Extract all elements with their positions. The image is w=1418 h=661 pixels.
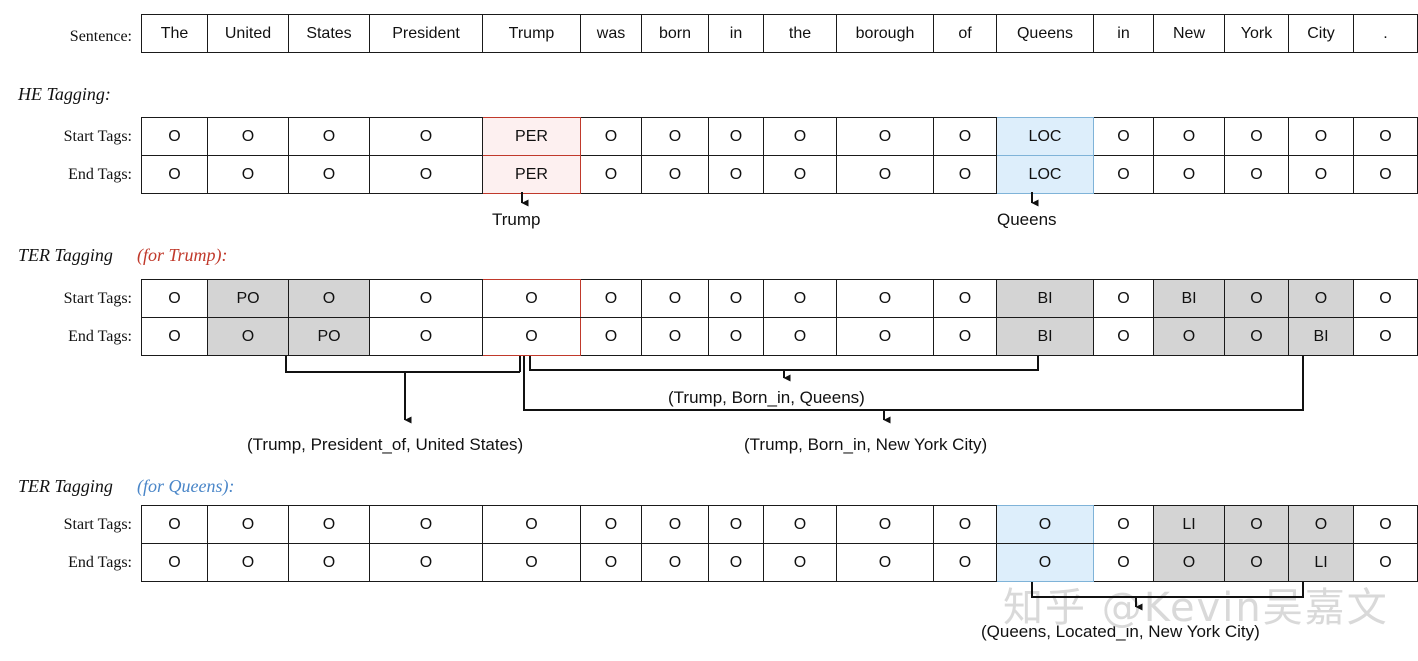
sentence-token-1: United xyxy=(208,15,289,53)
ter-queens-start-cell-10: O xyxy=(934,506,997,544)
ter-trump-start-label: Start Tags: xyxy=(0,290,132,308)
relation-born-in-nyc: (Trump, Born_in, New York City) xyxy=(744,435,987,455)
relation-born-in-queens: (Trump, Born_in, Queens) xyxy=(668,388,865,408)
he-end-cell-7: O xyxy=(709,156,764,194)
he-end-cell-2: O xyxy=(289,156,370,194)
sentence-token-7: in xyxy=(709,15,764,53)
ter-queens-end-cell-3: O xyxy=(370,544,483,582)
he-end-cell-5: O xyxy=(581,156,642,194)
he-start-cell-5: O xyxy=(581,118,642,156)
ter-queens-start-cell-12: O xyxy=(1094,506,1154,544)
ter-trump-start-cell-16: O xyxy=(1354,280,1418,318)
bracket-president-left xyxy=(286,356,520,372)
ter-trump-start-cell-11: BI xyxy=(997,280,1094,318)
he-end-cell-0: O xyxy=(142,156,208,194)
sentence-token-8: the xyxy=(764,15,837,53)
he-start-cell-12: O xyxy=(1094,118,1154,156)
ter-trump-end-cell-11: BI xyxy=(997,318,1094,356)
ter-trump-start-cell-3: O xyxy=(370,280,483,318)
he-start-cell-7: O xyxy=(709,118,764,156)
ter-trump-start-cell-14: O xyxy=(1225,280,1289,318)
ter-trump-start-cell-12: O xyxy=(1094,280,1154,318)
sentence-token-6: born xyxy=(642,15,709,53)
sentence-token-15: City xyxy=(1289,15,1354,53)
ter-trump-end-cell-2: PO xyxy=(289,318,370,356)
he-end-cell-12: O xyxy=(1094,156,1154,194)
ter-trump-end-cell-13: O xyxy=(1154,318,1225,356)
he-end-cell-10: O xyxy=(934,156,997,194)
ter-trump-end-label: End Tags: xyxy=(0,328,132,346)
ter-queens-end-cell-9: O xyxy=(837,544,934,582)
he-start-cell-3: O xyxy=(370,118,483,156)
he-start-cell-4: PER xyxy=(483,118,581,156)
ter-queens-end-cell-8: O xyxy=(764,544,837,582)
table-row: OOPOOOOOOOOOBIOOOBIO xyxy=(142,318,1418,356)
sentence-token-0: The xyxy=(142,15,208,53)
he-start-cell-8: O xyxy=(764,118,837,156)
ter-queens-title: TER Tagging xyxy=(18,476,113,497)
ter-trump-end-cell-5: O xyxy=(581,318,642,356)
sentence-token-12: in xyxy=(1094,15,1154,53)
bracket-born-queens xyxy=(530,356,1038,370)
ter-trump-end-cell-16: O xyxy=(1354,318,1418,356)
table-row: OOOOPEROOOOOOLOCOOOOO xyxy=(142,156,1418,194)
ter-trump-start-cell-6: O xyxy=(642,280,709,318)
he-start-cell-9: O xyxy=(837,118,934,156)
ter-trump-tag-table: OPOOOOOOOOOOBIOBIOOO OOPOOOOOOOOOBIOOOBI… xyxy=(141,279,1418,356)
sentence-table: TheUnitedStatesPresidentTrumpwasborninth… xyxy=(141,14,1418,53)
sentence-token-3: President xyxy=(370,15,483,53)
ter-trump-start-cell-4: O xyxy=(483,280,581,318)
he-end-cell-14: O xyxy=(1225,156,1289,194)
ter-queens-end-cell-0: O xyxy=(142,544,208,582)
figure-canvas: Sentence: TheUnitedStatesPresidentTrumpw… xyxy=(0,0,1418,661)
ter-queens-start-cell-9: O xyxy=(837,506,934,544)
ter-queens-start-cell-11: O xyxy=(997,506,1094,544)
ter-queens-start-cell-3: O xyxy=(370,506,483,544)
table-row: OPOOOOOOOOOOBIOBIOOO xyxy=(142,280,1418,318)
he-start-cell-0: O xyxy=(142,118,208,156)
ter-queens-start-cell-13: LI xyxy=(1154,506,1225,544)
ter-trump-end-cell-1: O xyxy=(208,318,289,356)
sentence-token-11: Queens xyxy=(997,15,1094,53)
sentence-token-10: of xyxy=(934,15,997,53)
ter-queens-start-cell-6: O xyxy=(642,506,709,544)
he-start-cell-16: O xyxy=(1354,118,1418,156)
watermark-text: 知乎 @Kevin吴嘉文 xyxy=(1003,575,1389,633)
ter-queens-start-cell-16: O xyxy=(1354,506,1418,544)
sentence-token-14: York xyxy=(1225,15,1289,53)
ter-trump-end-cell-10: O xyxy=(934,318,997,356)
ter-trump-start-cell-1: PO xyxy=(208,280,289,318)
ter-queens-end-cell-5: O xyxy=(581,544,642,582)
ter-trump-end-cell-3: O xyxy=(370,318,483,356)
sentence-token-2: States xyxy=(289,15,370,53)
ter-trump-start-cell-8: O xyxy=(764,280,837,318)
ter-trump-start-cell-13: BI xyxy=(1154,280,1225,318)
ter-queens-tag-table: OOOOOOOOOOOOOLIOOO OOOOOOOOOOOOOOOLIO xyxy=(141,505,1418,582)
sentence-token-4: Trump xyxy=(483,15,581,53)
ter-trump-end-cell-15: BI xyxy=(1289,318,1354,356)
table-row: TheUnitedStatesPresidentTrumpwasborninth… xyxy=(142,15,1418,53)
he-end-cell-11: LOC xyxy=(997,156,1094,194)
he-end-cell-3: O xyxy=(370,156,483,194)
he-start-cell-10: O xyxy=(934,118,997,156)
he-tagging-title: HE Tagging: xyxy=(18,84,111,105)
ter-trump-end-cell-7: O xyxy=(709,318,764,356)
ter-queens-start-cell-2: O xyxy=(289,506,370,544)
ter-queens-end-cell-1: O xyxy=(208,544,289,582)
table-row: OOOOOOOOOOOOOLIOOO xyxy=(142,506,1418,544)
ter-queens-end-label: End Tags: xyxy=(0,554,132,572)
ter-trump-start-cell-7: O xyxy=(709,280,764,318)
sentence-label: Sentence: xyxy=(0,28,132,46)
he-entity-callout-trump: Trump xyxy=(492,210,541,230)
he-tag-table: OOOOPEROOOOOOLOCOOOOO OOOOPEROOOOOOLOCOO… xyxy=(141,117,1418,194)
ter-trump-end-cell-0: O xyxy=(142,318,208,356)
he-end-cell-13: O xyxy=(1154,156,1225,194)
sentence-token-16: . xyxy=(1354,15,1418,53)
he-end-cell-15: O xyxy=(1289,156,1354,194)
he-start-cell-2: O xyxy=(289,118,370,156)
he-end-cell-16: O xyxy=(1354,156,1418,194)
ter-queens-start-cell-8: O xyxy=(764,506,837,544)
ter-queens-start-cell-15: O xyxy=(1289,506,1354,544)
he-start-label: Start Tags: xyxy=(0,128,132,146)
sentence-token-5: was xyxy=(581,15,642,53)
ter-queens-start-cell-14: O xyxy=(1225,506,1289,544)
he-end-cell-6: O xyxy=(642,156,709,194)
he-end-cell-1: O xyxy=(208,156,289,194)
he-start-cell-15: O xyxy=(1289,118,1354,156)
he-start-cell-13: O xyxy=(1154,118,1225,156)
bracket-born-nyc xyxy=(524,356,1303,410)
ter-queens-start-cell-1: O xyxy=(208,506,289,544)
table-row: OOOOPEROOOOOOLOCOOOOO xyxy=(142,118,1418,156)
ter-queens-start-cell-4: O xyxy=(483,506,581,544)
ter-queens-start-cell-0: O xyxy=(142,506,208,544)
ter-trump-start-cell-15: O xyxy=(1289,280,1354,318)
ter-trump-end-cell-4: O xyxy=(483,318,581,356)
ter-queens-end-cell-7: O xyxy=(709,544,764,582)
he-start-cell-11: LOC xyxy=(997,118,1094,156)
ter-trump-end-cell-8: O xyxy=(764,318,837,356)
sentence-token-9: borough xyxy=(837,15,934,53)
relation-president-of: (Trump, President_of, United States) xyxy=(247,435,523,455)
he-start-cell-14: O xyxy=(1225,118,1289,156)
he-end-cell-9: O xyxy=(837,156,934,194)
ter-trump-end-cell-6: O xyxy=(642,318,709,356)
ter-queens-start-cell-7: O xyxy=(709,506,764,544)
ter-trump-start-cell-5: O xyxy=(581,280,642,318)
ter-trump-subtitle: (for Trump): xyxy=(137,245,228,266)
he-entity-callout-queens: Queens xyxy=(997,210,1057,230)
ter-trump-start-cell-9: O xyxy=(837,280,934,318)
ter-trump-end-cell-12: O xyxy=(1094,318,1154,356)
he-start-cell-1: O xyxy=(208,118,289,156)
ter-queens-end-cell-10: O xyxy=(934,544,997,582)
ter-queens-end-cell-2: O xyxy=(289,544,370,582)
ter-trump-start-cell-10: O xyxy=(934,280,997,318)
ter-queens-end-cell-6: O xyxy=(642,544,709,582)
he-end-cell-8: O xyxy=(764,156,837,194)
ter-trump-start-cell-2: O xyxy=(289,280,370,318)
he-end-cell-4: PER xyxy=(483,156,581,194)
ter-queens-start-cell-5: O xyxy=(581,506,642,544)
sentence-token-13: New xyxy=(1154,15,1225,53)
ter-queens-end-cell-4: O xyxy=(483,544,581,582)
ter-trump-start-cell-0: O xyxy=(142,280,208,318)
ter-trump-title: TER Tagging xyxy=(18,245,113,266)
ter-trump-end-cell-9: O xyxy=(837,318,934,356)
ter-trump-end-cell-14: O xyxy=(1225,318,1289,356)
ter-queens-start-label: Start Tags: xyxy=(0,516,132,534)
he-end-label: End Tags: xyxy=(0,166,132,184)
he-start-cell-6: O xyxy=(642,118,709,156)
ter-queens-subtitle: (for Queens): xyxy=(137,476,234,497)
